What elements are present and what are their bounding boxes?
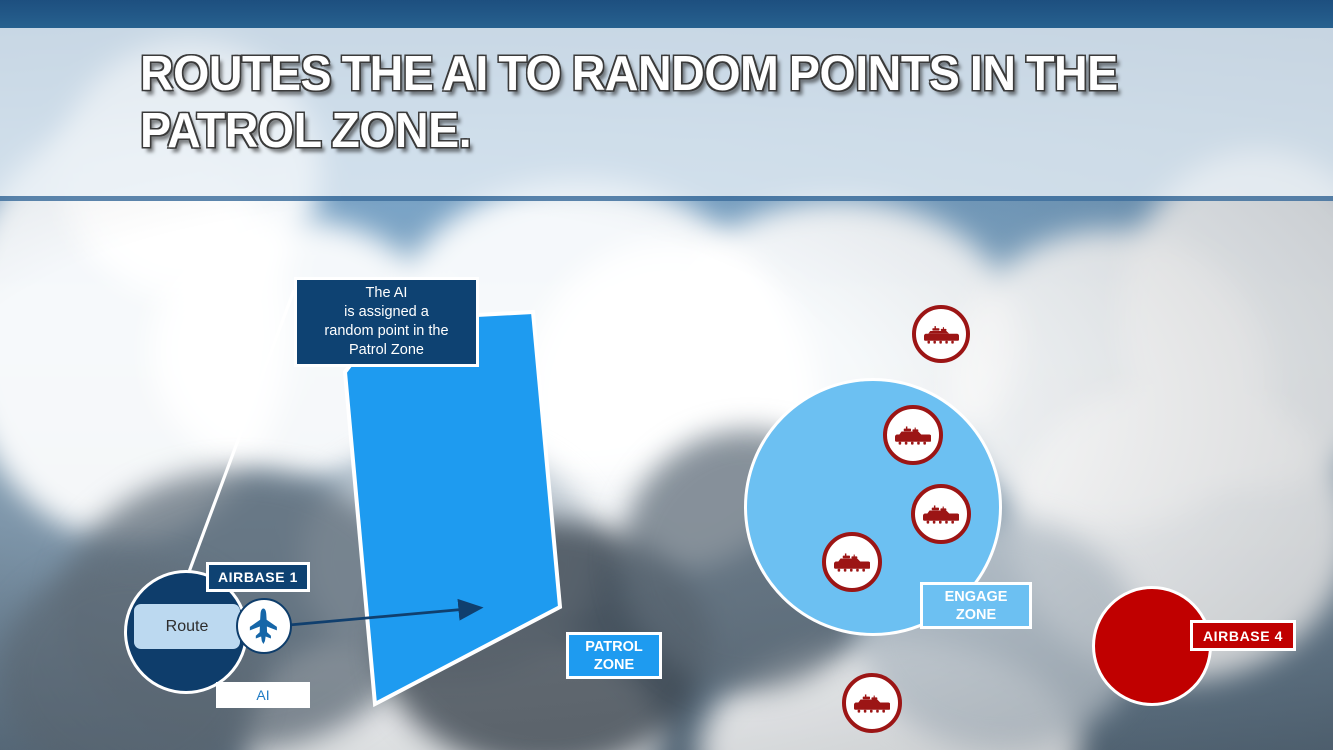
armored-vehicle-glyph [834, 544, 870, 580]
armored-vehicle-glyph [923, 496, 959, 532]
enemy-marker[interactable] [822, 532, 882, 592]
patrol-zone-polygon [345, 312, 560, 704]
armored-vehicle-glyph [854, 685, 890, 721]
engage-zone-label-line-2: ZONE [945, 606, 1008, 624]
enemy-marker[interactable] [842, 673, 902, 733]
engage-zone-label[interactable]: ENGAGE ZONE [920, 582, 1032, 629]
airbase-4-label[interactable]: AIRBASE 4 [1190, 620, 1296, 651]
slide-canvas: ROUTES THE AI TO RANDOM POINTS IN THE PA… [0, 0, 1333, 750]
patrol-zone-label[interactable]: PATROL ZONE [566, 632, 662, 679]
banner-divider [0, 196, 1333, 201]
patrol-zone-shape[interactable] [345, 312, 560, 712]
patrol-zone-label-line-2: ZONE [585, 656, 642, 674]
callout-line-2: is assigned a [324, 303, 448, 322]
fighter-jet-icon[interactable] [236, 598, 292, 654]
ai-label[interactable]: AI [216, 682, 310, 708]
callout-line-1: The AI [324, 284, 448, 303]
patrol-zone-label-line-1: PATROL [585, 638, 642, 656]
callout-line-4: Patrol Zone [324, 341, 448, 360]
armored-vehicle-glyph [895, 417, 931, 453]
page-title: ROUTES THE AI TO RANDOM POINTS IN THE PA… [140, 46, 1147, 160]
top-bar [0, 0, 1333, 28]
engage-zone-label-line-1: ENGAGE [945, 588, 1008, 606]
callout-box: The AI is assigned a random point in the… [294, 277, 479, 367]
enemy-marker[interactable] [912, 305, 970, 363]
fighter-jet-glyph [244, 606, 284, 646]
enemy-marker[interactable] [911, 484, 971, 544]
armored-vehicle-glyph [924, 317, 959, 352]
airbase-1-label[interactable]: AIRBASE 1 [206, 562, 310, 592]
callout-line-3: random point in the [324, 322, 448, 341]
route-pill[interactable]: Route [134, 604, 240, 649]
enemy-marker[interactable] [883, 405, 943, 465]
